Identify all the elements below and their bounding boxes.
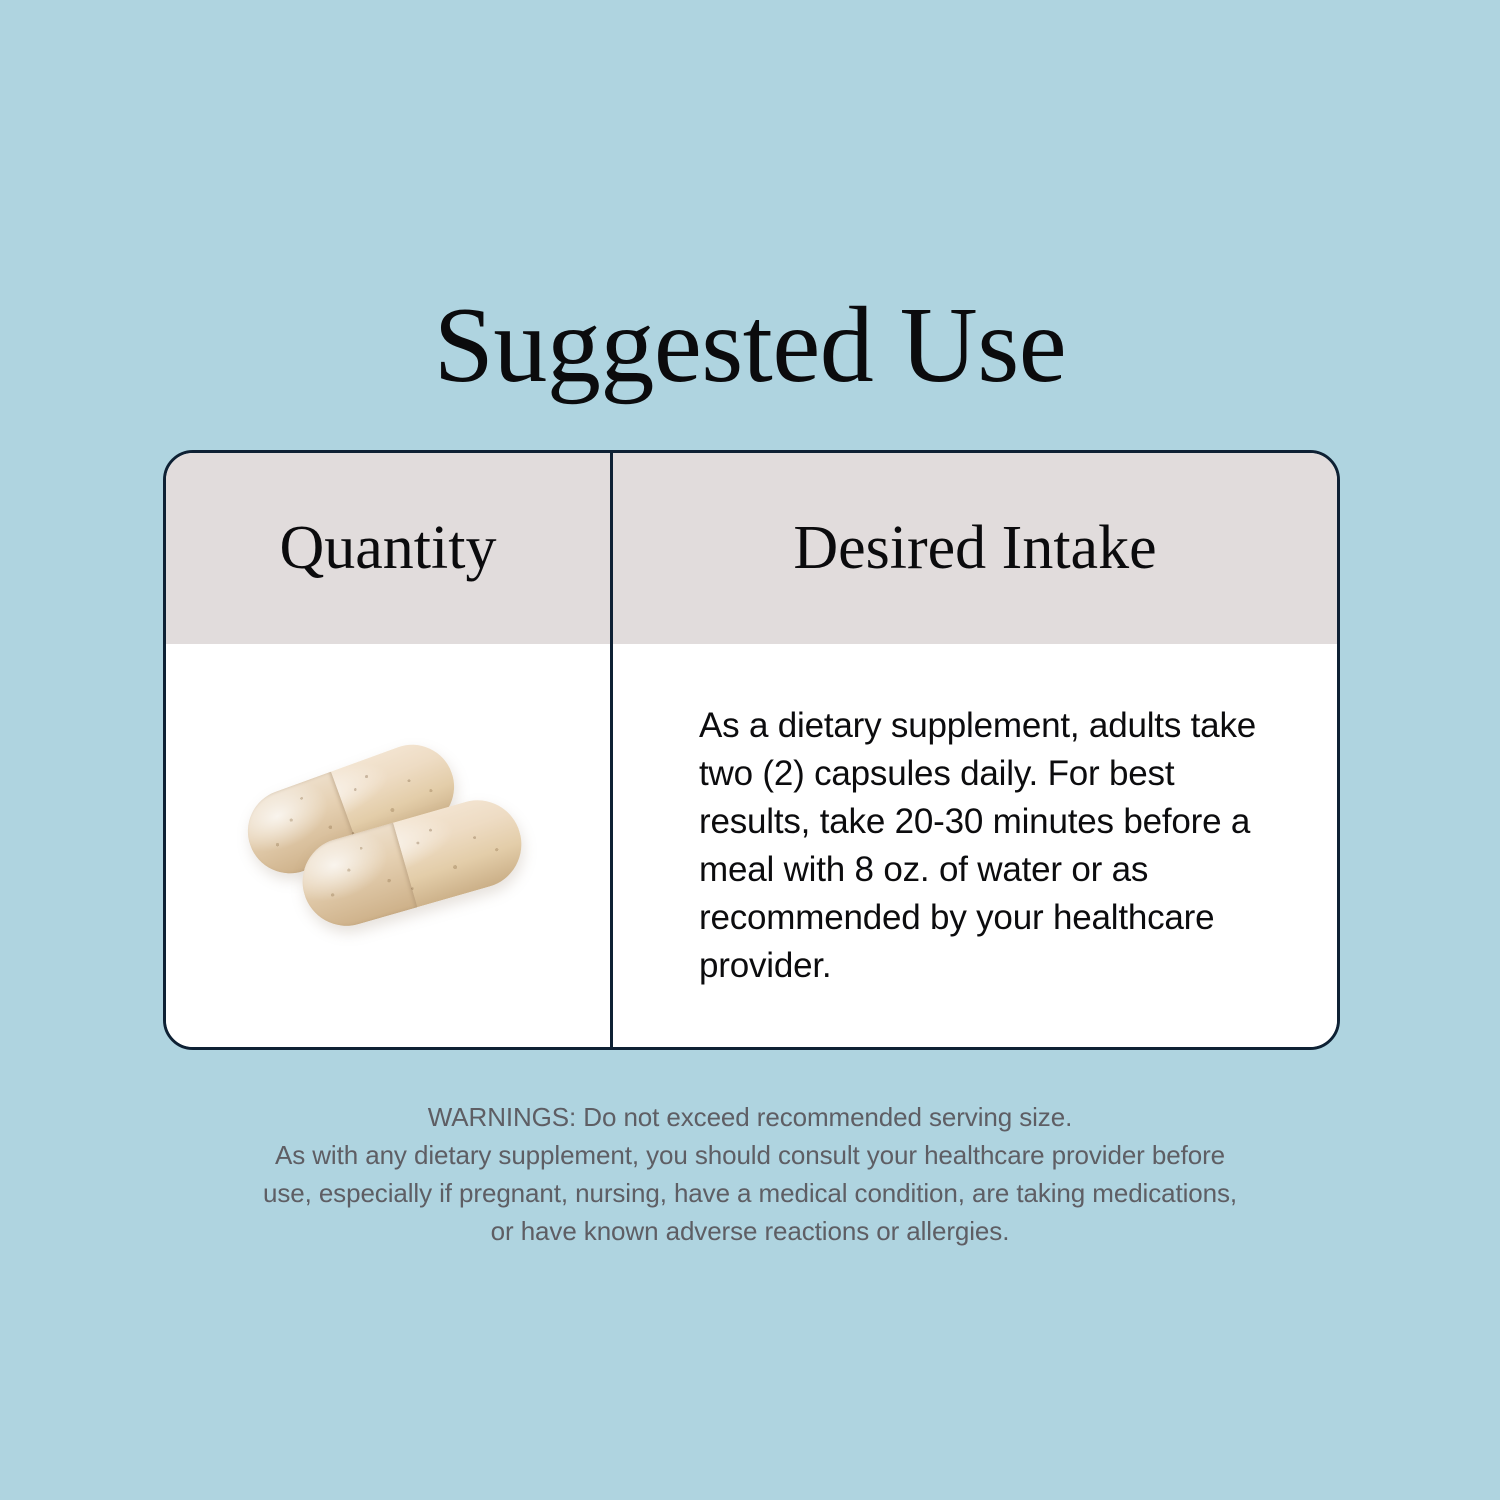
column-header-quantity-label: Quantity: [166, 514, 610, 582]
table-cell-quantity: [166, 644, 613, 1047]
page-title: Suggested Use: [0, 286, 1500, 407]
table-header-cell-quantity: Quantity: [166, 453, 613, 644]
two-capsules-image: [238, 741, 538, 951]
desired-intake-text: As a dietary supplement, adults take two…: [613, 702, 1319, 990]
table-header-row: Quantity Desired Intake: [166, 453, 1337, 644]
warning-line-3: use, especially if pregnant, nursing, ha…: [0, 1174, 1500, 1212]
column-header-desired-intake-label: Desired Intake: [613, 514, 1337, 582]
warning-line-2: As with any dietary supplement, you shou…: [0, 1136, 1500, 1174]
table-cell-desired-intake: As a dietary supplement, adults take two…: [613, 644, 1337, 1047]
table-header-cell-desired-intake: Desired Intake: [613, 453, 1337, 644]
warning-line-4: or have known adverse reactions or aller…: [0, 1212, 1500, 1250]
suggested-use-panel: Suggested Use Quantity Desired Intake: [0, 0, 1500, 1500]
warning-line-1: WARNINGS: Do not exceed recommended serv…: [0, 1098, 1500, 1136]
warnings-block: WARNINGS: Do not exceed recommended serv…: [0, 1098, 1500, 1250]
table-data-row: As a dietary supplement, adults take two…: [166, 644, 1337, 1047]
suggested-use-table: Quantity Desired Intake: [163, 450, 1340, 1050]
